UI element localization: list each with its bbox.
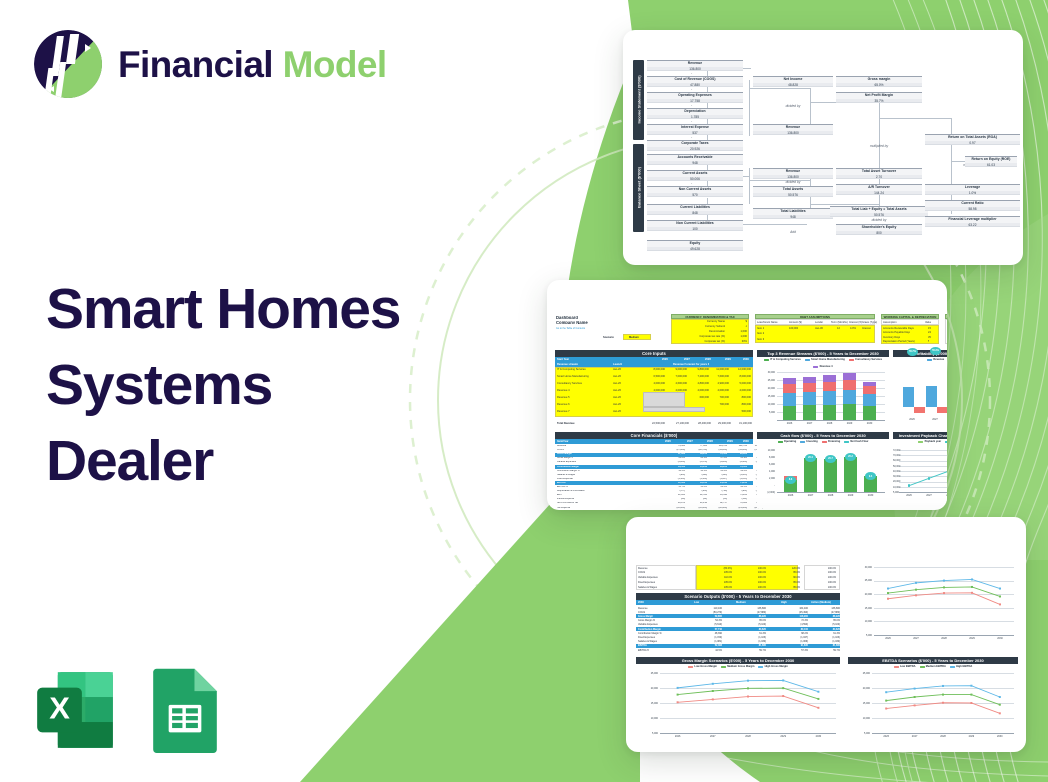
currency-row-label: Corporate tax rate (%) — [673, 335, 725, 338]
bar-segment — [783, 378, 796, 384]
x-tick-label: 2028 — [730, 735, 765, 738]
bar-segment — [863, 382, 876, 386]
scenario-output-cell: 81,680 — [816, 644, 840, 647]
core-financials-cell: 63.6% — [665, 457, 685, 460]
bar-segment — [843, 373, 856, 380]
net-cash-flow-bubble: 20.2 — [845, 453, 856, 461]
core-inputs-col-header: Start Year — [557, 358, 569, 361]
y-tick-label: 20,000 — [636, 687, 658, 690]
core-financials-cell: EBITDA % — [557, 486, 568, 489]
core-financials-cell: (990) — [687, 474, 707, 477]
bar-segment — [863, 386, 876, 394]
line-series-layer — [660, 673, 836, 733]
scenario-input-cell: 110.0% — [704, 576, 732, 579]
scenario-outputs-title: Scenario Outputs ($'000) - 5 Years to De… — [636, 593, 840, 600]
chart-profitability[interactable]: Profitability ($'000) - 5 Years to Decem… — [893, 350, 947, 430]
scenario-input-cell: 100.0% — [808, 567, 836, 570]
page-title-line-1: Smart Homes — [46, 272, 400, 348]
x-tick-label: 2027 — [919, 494, 939, 497]
chart-legend: Revenue EBITDA EBITDA % — [893, 358, 947, 361]
core-inputs-title: Core Inputs — [555, 350, 753, 357]
chart-legend: Payback year Cumulative Cash Generated (… — [893, 440, 947, 443]
y-tick-label: 25,000 — [757, 379, 775, 382]
core-financials-cell: 77,900 — [687, 445, 707, 448]
y-tick-label: 40,000 — [893, 470, 897, 473]
y-tick-label: 6,000 — [757, 463, 775, 466]
scenario-output-cell: 110,100 — [698, 607, 722, 610]
scenario-input-cell: 100.0% — [738, 581, 766, 584]
bar-operating — [824, 459, 837, 492]
wc-cell: 15 — [928, 327, 931, 330]
page-title: Smart Homes Systems Dealer — [46, 272, 400, 499]
dashboard-title: Dashboard — [556, 316, 578, 319]
brand-lockup: Financial Model — [32, 28, 387, 100]
metric-box: Total Asset Turnover 2.70 — [836, 168, 922, 179]
scenario-output-cell: 88,920 — [742, 615, 766, 618]
metric-box: Net Profit Margin 35.7% — [836, 92, 922, 103]
debt-cell: 100,000 — [789, 327, 798, 330]
core-financials-cell: Salaries & Wages — [557, 474, 575, 477]
chart-gross-margin-scenarios[interactable]: Gross Margin Scenarios ($'000) - 5 Years… — [636, 657, 840, 747]
y-tick-label: 20,000 — [852, 593, 872, 596]
currency-row-value: $ — [727, 320, 747, 323]
core-financials-cell: 63.1% — [687, 457, 707, 460]
y-tick-label: 10,000 — [757, 449, 775, 452]
metric-box: Leverage 1.0% — [925, 184, 1020, 195]
metric-box: Revenue 136,800 — [753, 124, 833, 135]
wc-col-header: Value — [925, 321, 931, 324]
wc-cell: Inventory Days — [883, 336, 900, 339]
wc-cell: 24 — [928, 331, 931, 334]
x-tick-label: 2028 — [929, 735, 957, 738]
core-financials-cell: 55.7% — [665, 486, 685, 489]
y-tick-label: 5,000 — [852, 634, 872, 637]
chart-legend: Low Gross Margin Medium Gross Margin Hig… — [636, 665, 840, 668]
core-financials-cell: 40,970 — [665, 502, 685, 505]
core-financials-cell: (980) — [665, 474, 685, 477]
net-cash-flow-bubble: 8.6 — [785, 476, 796, 484]
core-financials-cell: Depreciation & Amortisation — [557, 490, 585, 493]
core-financials-cell: 61.3% — [707, 486, 727, 489]
core-inputs-total-label: Total Revenue — [557, 422, 575, 425]
core-inputs-cell: Revenue 7 — [557, 410, 570, 413]
page-title-line-2: Systems — [46, 348, 400, 424]
metric-box: Non Current Assets 570 — [647, 186, 743, 197]
scenario-input-cell: 105.0% — [704, 581, 732, 584]
x-tick-label: 2030 — [986, 735, 1014, 738]
y-tick-label: 50,000 — [893, 465, 897, 468]
x-axis — [777, 420, 885, 421]
y-tick-label: 8,000 — [757, 456, 775, 459]
core-inputs-cell: Revenue 6 — [557, 403, 570, 406]
scenario-output-cell: 136,800 — [742, 607, 766, 610]
microsoft-excel-icon[interactable]: X — [32, 667, 118, 753]
x-tick-label: 2030 — [986, 637, 1014, 640]
scenario-output-cell: 164,400 — [784, 607, 808, 610]
x-tick-label: 2030 — [863, 422, 876, 425]
wc-cell: 5 — [928, 340, 929, 343]
y-tick-label: 10,000 — [848, 717, 870, 720]
scenario-output-cell: EBITDA — [638, 644, 647, 647]
x-tick-label: 2026 — [784, 494, 797, 497]
scenario-label: Scenario — [603, 336, 614, 339]
core-financials-cell: 41,000 — [665, 494, 685, 497]
bar-ebitda — [937, 407, 947, 413]
bar-segment — [783, 384, 796, 393]
core-financials-cell: 43,500 — [665, 466, 685, 469]
scenario-input-cell: 95.0% — [772, 586, 800, 589]
scenario-output-cell: 88,920 — [816, 615, 840, 618]
scenario-highlight-row — [636, 644, 840, 648]
core-financials-cell: 74,300 — [665, 445, 685, 448]
scenario-input-cell: 100.0% — [738, 567, 766, 570]
scenario-output-cell: (1,150) — [698, 636, 722, 639]
core-financials-cell: Interest Expense — [557, 498, 574, 501]
x-tick-label: 2029 — [843, 422, 856, 425]
scenario-input-cell: 100.0% — [738, 576, 766, 579]
chart-cash-flow[interactable]: Cash flow ($'000) - 5 Years to December … — [757, 432, 889, 508]
x-axis — [777, 492, 885, 493]
scenario-output-cell: 48,390 — [698, 632, 722, 635]
y-tick-label: (2,000) — [757, 491, 775, 494]
metric-box: Total Liab + Equity = Total Assets 50,57… — [830, 206, 928, 217]
metric-box: Revenue 136,800 — [753, 168, 833, 179]
y-tick-label: 70,000 — [893, 454, 897, 457]
brand-name-part1: Financial — [118, 44, 273, 85]
y-tick-label: 10,000 — [852, 620, 872, 623]
dupont-diagram: Income Statement ($'000) Balance Sheet (… — [633, 58, 1015, 243]
bar-segment — [843, 390, 856, 404]
x-tick-label: 2029 — [958, 637, 986, 640]
scenario-output-cell: 83,820 — [742, 628, 766, 631]
y-tick-label: 20,000 — [893, 480, 897, 483]
core-financials-cell: (798) — [707, 490, 727, 493]
metric-box: Shareholder's Equity 800 — [836, 224, 922, 235]
y-tick-label: 5,000 — [848, 732, 870, 735]
core-financials-cell: 67.3% — [707, 457, 727, 460]
x-tick-label: 2028 — [824, 494, 837, 497]
x-axis — [899, 492, 947, 493]
core-financials-header-row — [555, 439, 753, 444]
wc-cell: Depreciation Period (Years) — [883, 340, 915, 343]
scenario-output-cell: Fixed Expenses — [638, 636, 655, 639]
debt-col-header: Interest (%) — [849, 321, 862, 324]
x-tick-label: 2028 — [939, 494, 947, 497]
y-tick-label: 10,000 — [757, 403, 775, 406]
scenario-input-cell: 100.0% — [738, 571, 766, 574]
x-tick-label: 2026 — [783, 422, 796, 425]
scenario-highlight-row — [636, 614, 840, 618]
dashboard-screenshot[interactable]: Dashboard Company Name Go to the Table o… — [547, 280, 947, 510]
ebitda-pct-bubble: 55.3% — [930, 347, 941, 355]
line-series-layer — [872, 673, 1014, 733]
net-cash-flow-bubble: 20.4 — [805, 454, 816, 462]
scenario-input-cell: 95.0% — [772, 571, 800, 574]
currency-row-value: 1,000 — [727, 335, 747, 338]
bar-segment — [803, 383, 816, 392]
x-axis — [874, 635, 1014, 636]
data-point — [928, 477, 931, 480]
core-financials-cell: (377) — [665, 490, 685, 493]
scenario-output-cell: 81,680 — [742, 644, 766, 647]
core-financials-cell: 49,200 — [687, 453, 707, 456]
bar-segment — [843, 404, 856, 420]
bar-segment — [783, 393, 796, 406]
scenario-output-cell: 136,800 — [816, 607, 840, 610]
scenario-output-cell: (1,103) — [742, 636, 766, 639]
chart-legend: Operating Investing Financing Net Cash F… — [757, 440, 889, 443]
chart-ebitda-scenarios[interactable]: EBITDA Scenarios ($'000) - 5 Years to De… — [848, 657, 1018, 747]
metrics-table[interactable] — [945, 319, 947, 344]
debt-cell: Item 1 — [757, 327, 764, 330]
core-financials-cell: 45,230 — [687, 466, 707, 469]
metric-box: Corporate Taxes 20,926 — [647, 140, 743, 151]
scenario-input-cell: 120.0% — [772, 567, 800, 570]
debt-col-header: Amount ($) — [789, 321, 802, 324]
chart-legend: IT & Computing Services Smart Home Manuf… — [757, 358, 889, 368]
chart-top-3-revenue-streams[interactable]: Top 3 Revenue Streams ($'000) - 5 Years … — [757, 350, 889, 430]
currency-row-value: 1,000 — [727, 330, 747, 333]
debt-cell: 12 — [837, 327, 840, 330]
y-tick-label: 5,000 — [757, 411, 775, 414]
bar-segment — [783, 406, 796, 420]
y-tick-label: - — [757, 484, 775, 487]
currency-row-label: Denomination — [673, 330, 725, 333]
scenario-output-cell: 59.7% — [742, 649, 766, 652]
core-financials-cell: 43,130 — [687, 482, 707, 485]
core-financials-cell: EBITDA — [557, 482, 566, 485]
x-tick-label: 2026 — [660, 735, 695, 738]
core-inputs-cell: IT & Computing Services — [557, 368, 586, 371]
scenario-output-cell: 61.3% — [816, 632, 840, 635]
scenario-input-cell: Salaries & Wages — [638, 586, 657, 589]
x-tick-label: 2028 — [823, 422, 836, 425]
core-inputs-cell: Revenue 5 — [557, 396, 570, 399]
y-tick-label: 15,000 — [757, 395, 775, 398]
wc-cell: Accounts Payable Days — [883, 331, 910, 334]
x-tick-label: 2027 — [900, 735, 928, 738]
x-tick-label: 2029 — [844, 494, 857, 497]
income-statement-spine-label: Income Statement ($'000) — [636, 58, 641, 142]
core-inputs-cell: Consultancy Services — [557, 382, 582, 385]
scenario-output-cell: 59,800 — [698, 615, 722, 618]
wc-col-header: Assumption — [883, 321, 897, 324]
x-tick-label: 2026 — [899, 494, 919, 497]
core-financials-cell: Revenue — [557, 445, 566, 448]
metric-box: Total Assets 50,576 — [753, 186, 833, 197]
scenario-output-cell: 65.0% — [742, 619, 766, 622]
metric-box: Current Assets 50,006 — [647, 170, 743, 181]
metric-box: Depreciation 1,785 — [647, 108, 743, 119]
metric-box: Net Income 48,828 — [753, 76, 833, 87]
scenario-output-cell: (1,047) — [784, 636, 808, 639]
y-tick-label: 25,000 — [852, 579, 872, 582]
line-series-layer — [899, 450, 947, 492]
currency-row-label: Corporate tax (%) — [673, 340, 725, 343]
x-tick-label: 2027 — [804, 494, 817, 497]
metric-box: Accounts Receivable 948 — [647, 154, 743, 165]
scenario-output-cell: Contribution Margin % — [638, 632, 662, 635]
page-title-line-3: Dealer — [46, 424, 400, 500]
debt-col-header: Lender — [815, 321, 823, 324]
bar-segment — [823, 382, 836, 392]
scenario-output-cell: 54.3% — [698, 619, 722, 622]
debt-col-header: Grace (Type) — [862, 321, 877, 324]
y-tick-label: 72,000 — [893, 449, 897, 452]
scenario-input-cell: 100.0% — [808, 586, 836, 589]
scenario-analysis-screenshot[interactable]: Revenue(80.0%)100.0%120.0%100.0%COGS105.… — [626, 517, 1026, 752]
financial-model-circle-logo — [32, 28, 104, 100]
currency-row-label: Currency Name — [673, 320, 725, 323]
core-financials-cell: 58.5% — [665, 470, 685, 473]
core-financials-cell: (44) — [687, 498, 707, 501]
scenario-output-cell: 52,483 — [698, 644, 722, 647]
y-tick-label: 20,000 — [848, 687, 870, 690]
x-tick-label: 2027 — [803, 422, 816, 425]
core-financials-cell: 58.1% — [687, 470, 707, 473]
core-financials-cell: (580) — [687, 490, 707, 493]
y-tick-label: 20,000 — [757, 387, 775, 390]
scenario-input-cell: 105.0% — [704, 586, 732, 589]
core-inputs-blank-cells — [643, 392, 685, 407]
core-financials-cell: 63.2% — [707, 470, 727, 473]
brand-name-part2: Model — [283, 44, 387, 85]
chart-investment-payback[interactable]: Investment Payback Chart ($'000) - 5 Yea… — [893, 432, 947, 508]
dupont-analysis-screenshot[interactable]: Income Statement ($'000) Balance Sheet (… — [623, 30, 1023, 265]
core-financials-cell: 55.3% — [687, 486, 707, 489]
bar-revenue — [903, 387, 914, 407]
core-financials-cell: 70,500 — [707, 453, 727, 456]
currency-row-label: Currency Subunit — [673, 325, 725, 328]
scenario-output-cell: 57,710 — [698, 628, 722, 631]
core-financials-cell: Net Profit Before Tax — [557, 502, 578, 505]
core-financials-cell: (50) — [707, 498, 727, 501]
scenario-input-cell: 100.0% — [738, 586, 766, 589]
metric-box: Revenue 136,800 — [647, 60, 743, 71]
scenario-input-cell: Revenue — [638, 567, 648, 570]
metric-box: A/R Turnover 144.24 — [836, 184, 922, 195]
x-tick-label: 2030 — [864, 494, 877, 497]
scenario-output-cell: 80,100 — [784, 628, 808, 631]
core-financials-cell: 62,757 — [707, 502, 727, 505]
y-tick-label: 10,000 — [636, 717, 658, 720]
scenario-input-cell: 90.0% — [772, 576, 800, 579]
core-financials-cell: 104,700 — [707, 445, 727, 448]
core-financials-cell: 41,400 — [665, 482, 685, 485]
y-tick-label: 25,000 — [636, 672, 658, 675]
google-sheets-icon[interactable] — [148, 667, 222, 753]
wc-cell: 35 — [928, 336, 931, 339]
core-financials-cell: EBIT — [557, 494, 562, 497]
bar-ebitda — [914, 407, 925, 413]
metric-box-roe: Return on Equity (ROE) 61.03 — [965, 156, 1017, 167]
scenario-highlight-row — [636, 627, 840, 631]
x-tick-label: 2026 — [872, 735, 900, 738]
debt-col-header: Term (Months) — [831, 321, 848, 324]
currency-row-value: 30% — [727, 340, 747, 343]
core-financials-cell: 64,190 — [707, 482, 727, 485]
y-tick-label: 5,000 — [636, 732, 658, 735]
metric-box: Operating Expenses 17,758 — [647, 92, 743, 103]
scenario-output-cell: 61.3% — [742, 632, 766, 635]
scenario-output-cell: 44.5% — [698, 649, 722, 652]
y-tick-label: 15,000 — [852, 607, 872, 610]
bar-segment — [823, 375, 836, 382]
x-tick-label: 2029 — [766, 735, 801, 738]
chart-revenue-scenarios[interactable]: 5,00010,00015,00020,00025,00030,000 2026… — [852, 563, 1018, 649]
bar-revenue — [926, 386, 937, 407]
bar-segment — [843, 380, 856, 390]
scenario-output-cell: Gross Margin % — [638, 619, 655, 622]
scenario-value: Medium — [629, 336, 639, 339]
x-tick-label: 2030 — [801, 735, 836, 738]
scenario-output-cell: 57.3% — [784, 649, 808, 652]
scenario-input-cell: 100.0% — [808, 571, 836, 574]
metric-box: Cost of Revenue (COGS) 47,880 — [647, 76, 743, 87]
scenario-input-cell: 100.0% — [808, 576, 836, 579]
x-tick-label: 2026 — [874, 637, 902, 640]
y-tick-label: 5,000 — [893, 491, 897, 494]
core-financials-cell: 63,390 — [707, 494, 727, 497]
dashboard-company-name: Company Name — [556, 321, 588, 324]
core-inputs-cell: Revenue 4 — [557, 389, 570, 392]
debt-cell: Item 2 — [757, 332, 764, 335]
core-financials-cell: 47,300 — [665, 453, 685, 456]
wc-cell: Accounts Receivable Days — [883, 327, 914, 330]
bar-operating — [804, 458, 817, 492]
scenario-output-cell: EBITDA % — [638, 649, 649, 652]
metric-box: Equity 49,628 — [647, 240, 743, 251]
core-financials-cell: Gross Margin — [557, 453, 572, 456]
y-tick-label: 10,000 — [893, 486, 897, 489]
core-financials-title: Core Financials ($'000) — [555, 432, 753, 439]
y-tick-label: 30,000 — [757, 371, 775, 374]
scenario-output-cell: (1,103) — [816, 636, 840, 639]
scenario-input-cell: Variable Expenses — [638, 576, 658, 579]
metric-box: Current Ratio 58.98 — [925, 200, 1020, 211]
y-tick-label: 60,000 — [893, 459, 897, 462]
scenario-input-cell: Fixed Expenses — [638, 581, 655, 584]
scenario-output-cell: 68.2% — [784, 632, 808, 635]
x-tick-label: 2026 — [903, 418, 921, 421]
y-tick-label: 25,000 — [848, 672, 870, 675]
y-tick-label: 15,000 — [636, 702, 658, 705]
core-financials-cell: Contribution Margin — [557, 466, 579, 469]
core-financials-cell: 41,210 — [687, 502, 707, 505]
brand-name: Financial Model — [118, 46, 387, 83]
y-tick-label: 15,000 — [848, 702, 870, 705]
chart-legend: Low EBITDA Medium EBITDA High EBITDA — [848, 665, 1018, 668]
scenario-output-cell: 83,820 — [816, 628, 840, 631]
x-tick-label: 2028 — [930, 637, 958, 640]
bar-segment — [803, 392, 816, 405]
balance-sheet-spine-label: Balance Sheet ($'000) — [636, 146, 641, 230]
scenario-output-cell: Contribution Margin — [638, 628, 661, 631]
table-of-contents-link[interactable]: Go to the Table of Contents — [556, 327, 585, 330]
metric-box: Financial Leverage multiplier 63.22 — [925, 216, 1020, 227]
bar-segment — [863, 394, 876, 406]
bar-segment — [823, 405, 836, 420]
metric-box: Total Liabilities 948 — [753, 208, 833, 219]
scenario-input-cell: 100.0% — [808, 581, 836, 584]
core-financials-cell: 66,220 — [707, 466, 727, 469]
x-axis — [872, 733, 1014, 734]
debt-col-header: Loan/Grant Name — [757, 321, 778, 324]
scenario-output-cell: 118,900 — [784, 615, 808, 618]
core-financials-cell: (995) — [707, 474, 727, 477]
debt-cell: Interest — [862, 327, 871, 330]
x-tick-label: 2027 — [902, 637, 930, 640]
